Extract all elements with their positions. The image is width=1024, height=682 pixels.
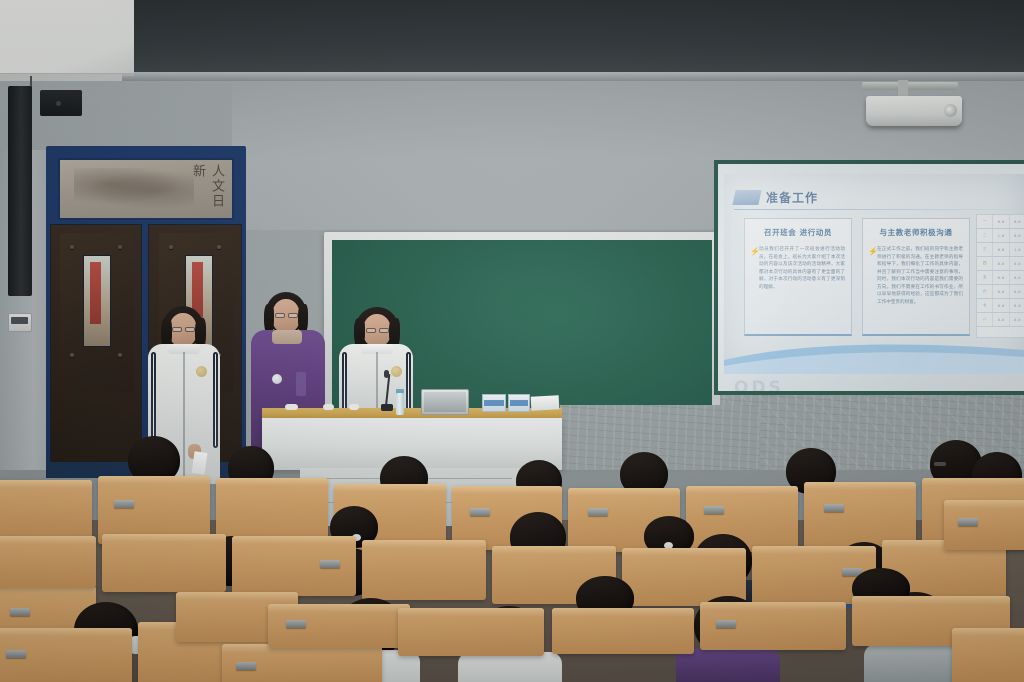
slide-table-row: 八0.00.0 [977,313,1024,327]
school-badge [196,366,207,377]
slide-table-cell: 三 [977,243,993,256]
seat-top-edge [0,480,92,488]
seat[interactable] [0,536,96,588]
projector-mount-arm [862,82,958,90]
door-stud [118,245,122,249]
glasses-right-lens [379,328,389,333]
seat[interactable] [222,644,382,682]
seat[interactable] [0,628,132,682]
seat-top-edge [232,536,356,544]
seat-top-edge [852,596,1010,604]
seat-top-edge [492,546,616,554]
seat[interactable] [552,608,694,654]
slide-table-cell: 0.0 [1010,271,1024,284]
glasses-right-lens [185,327,195,332]
slide-table-cell: 0.0 [1010,215,1024,228]
slide-card: 与主教老师积极沟通 ⚡ 在正式工作之前，我们班的同学和主教老师进行了积极的沟通。… [862,218,970,336]
seat-clip [10,608,30,616]
seat-clip [470,508,490,516]
slide-table-cell: 二 [977,229,993,242]
seat-clip [320,560,340,568]
seat[interactable] [700,602,846,650]
seat-top-edge [452,486,562,494]
seat-clip [704,506,724,514]
ceiling-soffit [118,0,1024,78]
slide-footer-wave [724,338,1024,374]
seat-top-edge [268,604,410,612]
slide-table-cell: 五 [977,271,993,284]
seat[interactable] [362,540,486,600]
door-leaf-left[interactable] [50,224,142,472]
slide-data-table: 一0.00.0二1.00.0三0.81.0四0.00.0五0.00.0六0.00… [976,214,1024,338]
seat-clip [824,504,844,512]
seat-clip [588,508,608,516]
slide-table-cell: 0.0 [1010,229,1024,242]
zipper [376,352,378,412]
projector-lens-icon [944,104,957,117]
seat-top-edge [686,486,798,494]
slide-table-cell: 一 [977,215,993,228]
seat-top-edge [700,602,846,610]
seat-top-edge [804,482,916,490]
slide-table-cell: 0.0 [993,313,1009,326]
ceiling-soffit-edge [118,72,1024,81]
student-shoulders [458,652,562,682]
door-transom-window: 人文日新 [58,158,234,220]
slide-table-cell: 七 [977,299,993,312]
slide-table-cell: 0.0 [993,257,1009,270]
glasses-left-lens [275,313,285,318]
slide-table-row: 二1.00.0 [977,229,1024,243]
water-bottle[interactable] [396,393,404,415]
slide-card-heading: 召开班会 进行动员 [745,227,851,238]
slide-title-bar: 准备工作 [734,188,1012,210]
slide-card-heading: 与主教老师积极沟通 [863,227,969,238]
seat-top-edge [922,478,1024,486]
laptop-screen[interactable] [424,392,466,412]
slide-table-row: 五0.00.0 [977,271,1024,285]
projection-screen[interactable]: 准备工作 召开班会 进行动员 ⚡ 动员我们召开开了一次班会进行活动动员。在班会上… [718,164,1024,391]
slide-card-body: 在正式工作之前，我们班的同学和主教老师进行了积极的沟通。在主教老师的指导和指导下… [877,246,963,307]
chalk [285,404,298,410]
slide-table-cell: 0.0 [1010,299,1024,312]
glasses-left-lens [172,327,182,332]
slide-table-row: 七0.00.0 [977,299,1024,313]
slide-title: 准备工作 [766,189,818,206]
slide-table-cell: 1.0 [1010,243,1024,256]
slide-table-cell: 0.0 [1010,285,1024,298]
slide-table-cell: 0.0 [1010,257,1024,270]
seat-top-edge [552,608,694,616]
seat[interactable] [268,604,410,648]
door-stud [70,353,74,357]
chalk [349,404,359,410]
seat[interactable] [0,480,92,544]
tissue-box-band [484,400,504,406]
seat-clip [716,620,736,628]
jacket-badge [272,374,282,384]
seat[interactable] [232,536,356,596]
seat-top-edge [622,548,746,556]
door-vision-panel [83,255,111,347]
slide-table-cell: 0.8 [993,243,1009,256]
seat-top-edge [752,546,876,554]
seat-clip [6,650,26,658]
chalk [323,404,334,410]
ceiling-panel [0,0,134,76]
slide-table-cell: 0.0 [1010,313,1024,326]
seat-top-edge [0,536,96,544]
seat-top-edge [216,478,328,486]
tissue-box-band [510,400,528,406]
seat-top-edge [362,540,486,548]
seat-top-edge [952,628,1024,636]
seat[interactable] [944,500,1024,550]
seat[interactable] [952,628,1024,682]
seat-top-edge [334,484,446,492]
seat-top-edge [98,476,210,484]
slide-table-cell: 六 [977,285,993,298]
slide-table-cell: 0.0 [993,299,1009,312]
seat-clip [236,662,256,670]
seat-clip [958,518,978,526]
microphone-capsule-icon [384,370,389,378]
neck [272,330,302,344]
door-stud [169,245,173,249]
seat-clip [286,620,306,628]
door-stud [70,245,74,249]
slide-table-row: 三0.81.0 [977,243,1024,257]
thermostat-display [11,317,28,324]
slide-title-rule [734,209,1012,210]
seat[interactable] [398,608,544,656]
door-window-red-banner [90,262,101,324]
seat-top-edge [568,488,680,496]
door-stud [217,245,221,249]
screen-watermark: ODS [734,378,784,391]
slide-table-row: 四0.00.0 [977,257,1024,271]
presentation-slide: 准备工作 召开班会 进行动员 ⚡ 动员我们召开开了一次班会进行活动动员。在班会上… [724,174,1024,374]
ceiling-panel-lip [0,74,122,81]
slide-table-cell: 四 [977,257,993,270]
seat-clip [114,500,134,508]
slide-table-cell: 0.0 [993,215,1009,228]
zipper [183,352,185,478]
seat-top-edge [176,592,298,600]
slide-table-row: 六0.00.0 [977,285,1024,299]
papers[interactable] [531,395,560,410]
glasses-lens [934,462,946,466]
wall-calligraphy-text: 人文日新 [188,164,226,218]
seat-top-edge [944,500,1024,508]
gooseneck-microphone[interactable] [381,404,393,411]
slide-card-body: 动员我们召开开了一次班会进行活动动员。在班会上，班长为大家介绍了本次活动的内容以… [759,246,845,291]
slide-table-cell: 八 [977,313,993,326]
slide-title-accent-icon [732,190,761,205]
seat-top-edge [102,534,226,542]
jacket-pocket [296,372,306,396]
door-stud [118,353,122,357]
slide-table-cell: 1.0 [993,229,1009,242]
glasses-left-lens [366,328,376,333]
seat[interactable] [102,534,226,592]
seat-top-edge [0,628,132,636]
slide-table-cell: 0.0 [993,285,1009,298]
slide-table-cell: 0.0 [993,271,1009,284]
projector-mount [898,80,908,96]
wall-speaker [40,90,82,116]
classroom-scene: 人文日新 [0,0,1024,682]
slide-card: 召开班会 进行动员 ⚡ 动员我们召开开了一次班会进行活动动员。在班会上，班长为大… [744,218,852,336]
wall-speaker-column [8,86,32,296]
wall-speaker-driver-icon [56,101,61,106]
seat-top-edge [398,608,544,616]
slide-table-row: 一0.00.0 [977,215,1024,229]
school-badge [391,366,402,377]
glasses-right-lens [288,313,298,318]
